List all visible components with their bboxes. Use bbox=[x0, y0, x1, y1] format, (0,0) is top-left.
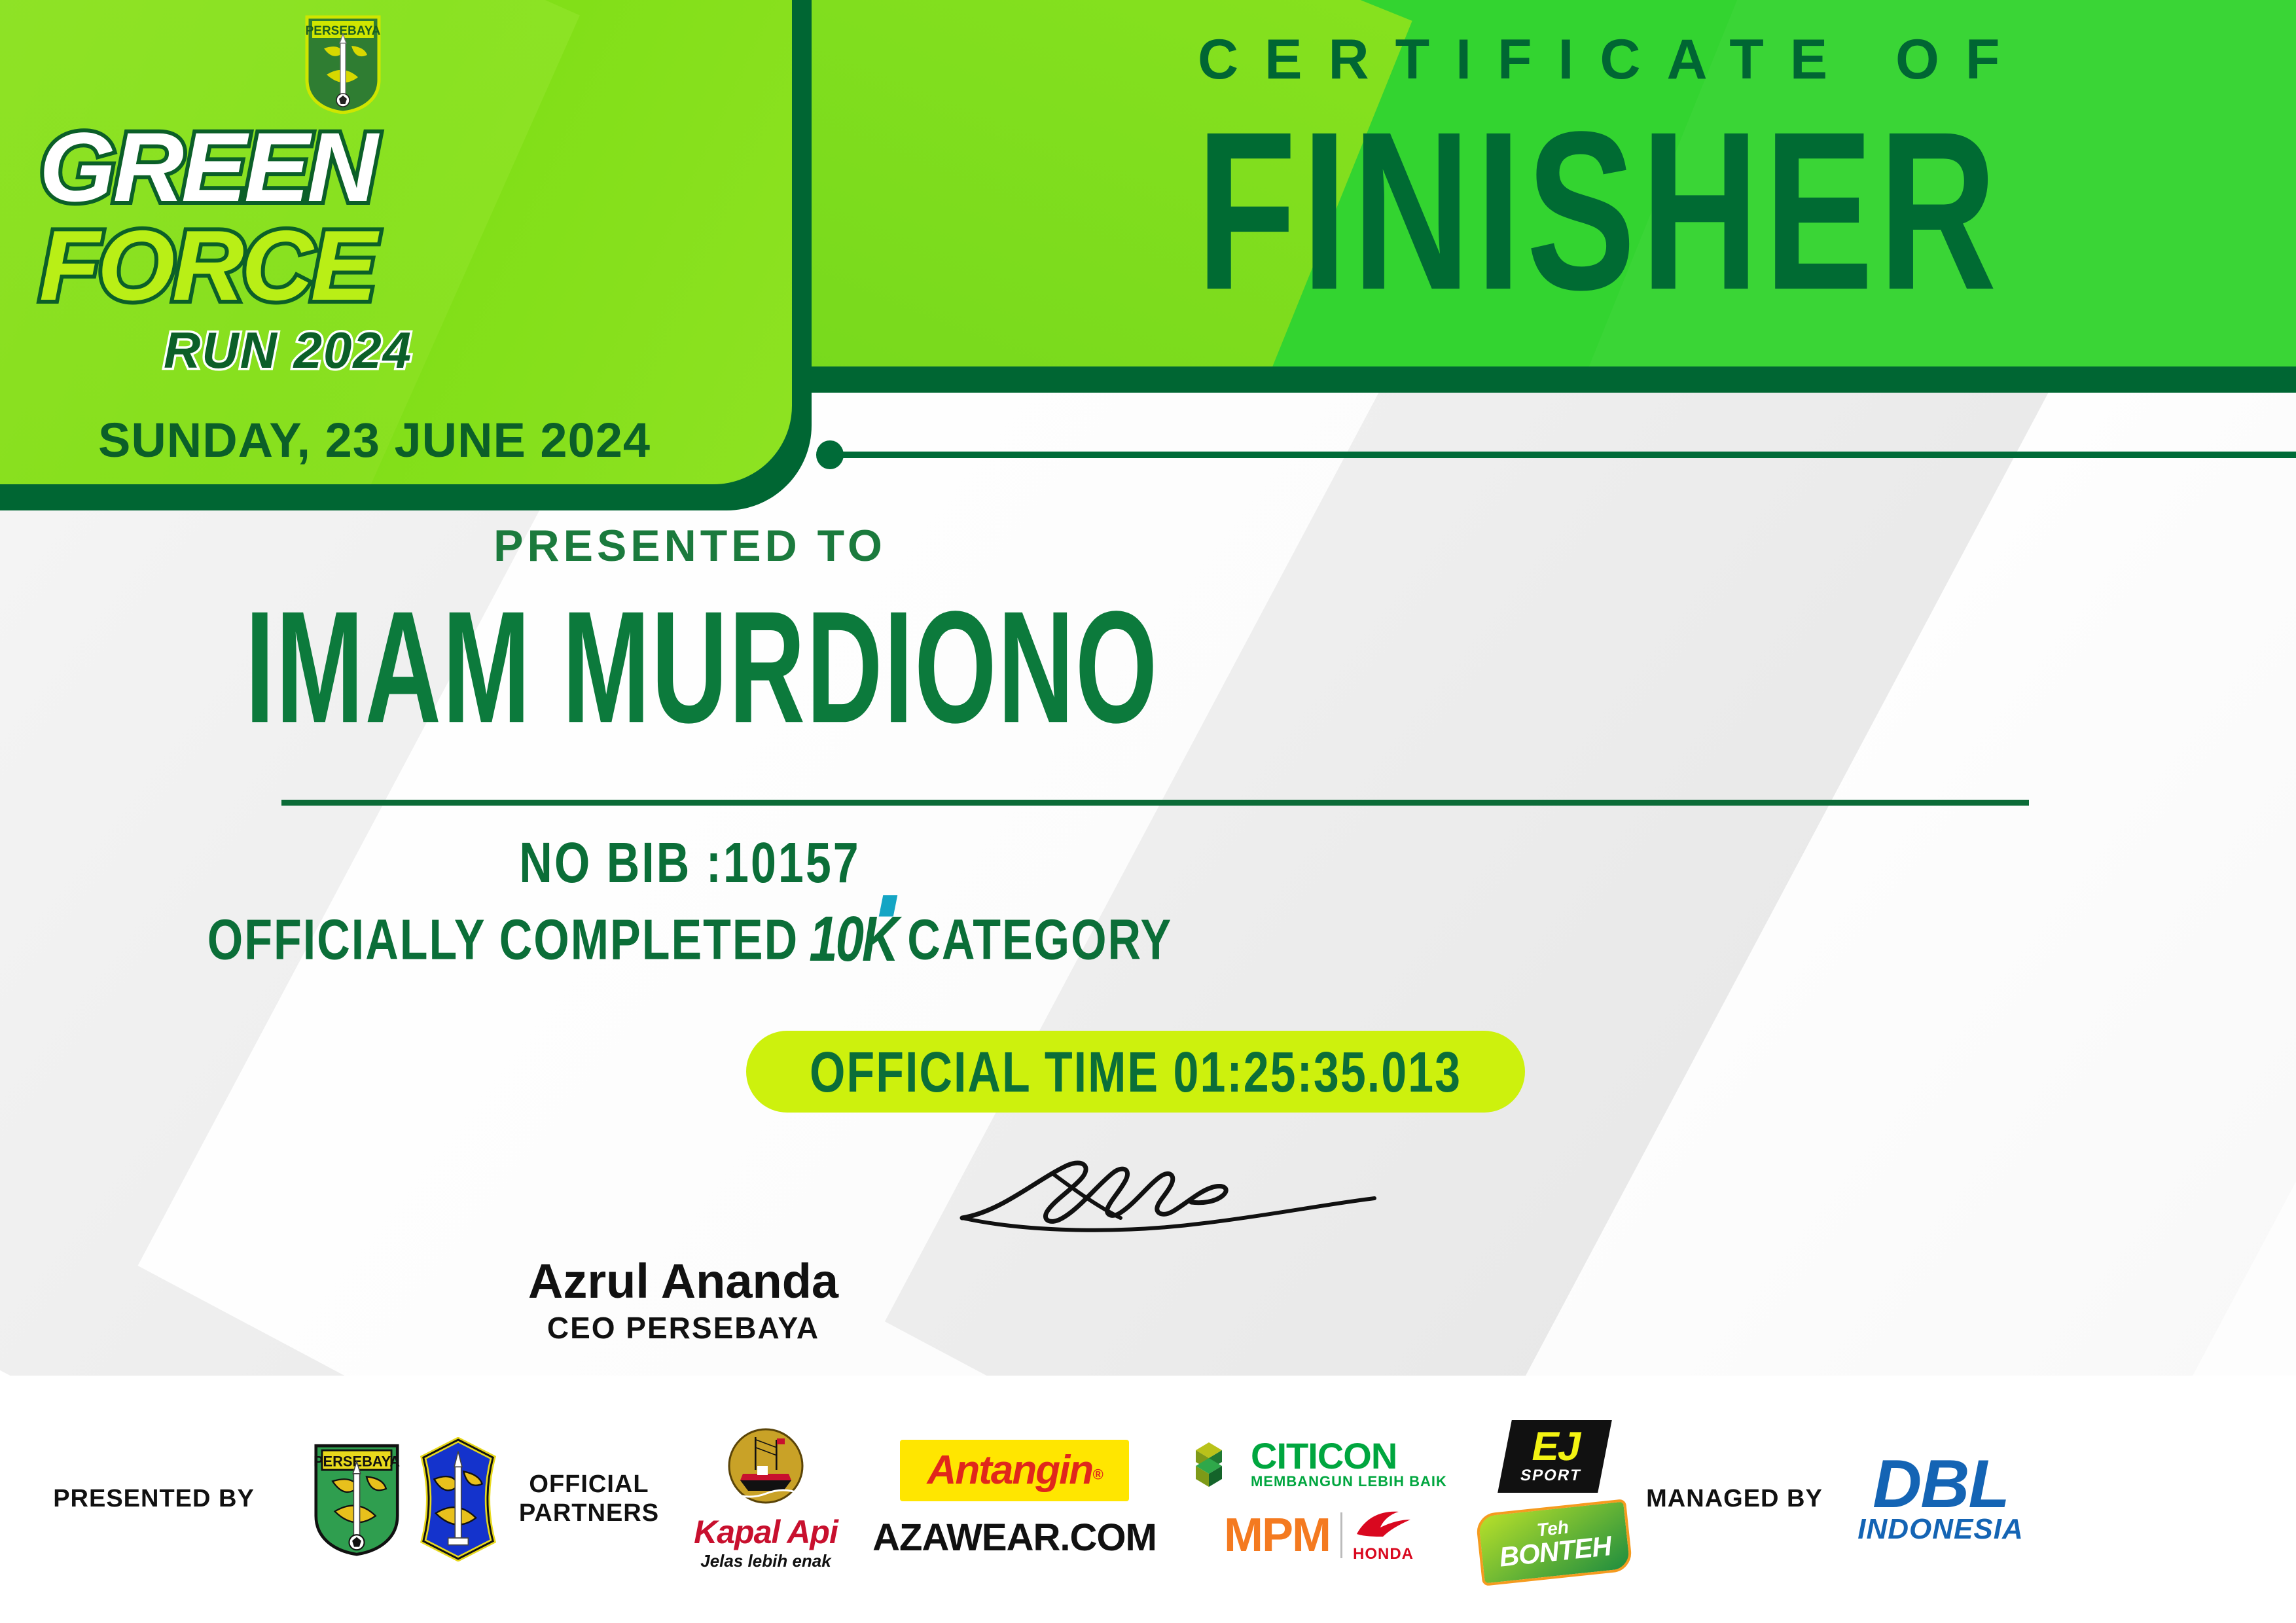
kapal-api-tagline: Jelas lebih enak bbox=[700, 1551, 831, 1571]
surabaya-city-crest-icon bbox=[416, 1437, 501, 1561]
citicon-logo: CITICON MEMBANGUN LEBIH BAIK bbox=[1191, 1436, 1447, 1493]
honda-wing-icon bbox=[1353, 1508, 1413, 1542]
certificate-canvas: CERTIFICATE OF FINISHER PERSEBAYA GREEN … bbox=[0, 0, 2296, 1623]
certificate-of-title: CERTIFICATE OF bbox=[1198, 31, 2026, 88]
presented-to-label: PRESENTED TO bbox=[0, 520, 2296, 571]
ten-k-logo-icon: 10K bbox=[809, 902, 897, 976]
partner-citicon-mpm-cell: CITICON MEMBANGUN LEBIH BAIK MPM HONDA bbox=[1165, 1436, 1473, 1563]
signatory-name: Azrul Ananda bbox=[0, 1253, 2296, 1309]
managed-by-label: MANAGED BY bbox=[1646, 1485, 1823, 1514]
official-time-text: OFFICIAL TIME 01:25:35.013 bbox=[810, 1039, 1462, 1105]
antangin-logo: Antangin® bbox=[900, 1440, 1130, 1501]
dbl-name: DBL bbox=[1857, 1455, 2023, 1515]
citicon-mpm-stack: CITICON MEMBANGUN LEBIH BAIK MPM HONDA bbox=[1191, 1436, 1447, 1563]
wordmark-force: FORCE bbox=[39, 216, 583, 315]
azawear-logo: AZAWEAR.COM bbox=[872, 1516, 1157, 1560]
event-date: SUNDAY, 23 JUNE 2024 bbox=[98, 412, 651, 468]
partner-antangin-azawear-cell: Antangin® AZAWEAR.COM bbox=[864, 1440, 1165, 1560]
sponsor-footer: PRESENTED BY PERSEBAYA bbox=[0, 1376, 2296, 1623]
mpm-divider bbox=[1340, 1512, 1342, 1558]
category-line: OFFICIALLY COMPLETED 10K CATEGORY bbox=[0, 902, 2296, 976]
name-divider-rule bbox=[281, 800, 2029, 806]
bib-number: NO BIB :10157 bbox=[0, 830, 2296, 895]
footer-persebaya-crest-cell: PERSEBAYA bbox=[308, 1440, 406, 1558]
partner-kapal-api-cell: Kapal Api Jelas lebih enak bbox=[668, 1428, 864, 1571]
finisher-title: FINISHER bbox=[1196, 98, 2002, 324]
kapal-api-logo: Kapal Api Jelas lebih enak bbox=[694, 1428, 838, 1571]
category-prefix: OFFICIALLY COMPLETED bbox=[207, 906, 798, 972]
persebaya-crest-icon: PERSEBAYA bbox=[304, 14, 382, 114]
dbl-tagline: INDONESIA bbox=[1857, 1515, 2023, 1544]
citicon-text-block: CITICON MEMBANGUN LEBIH BAIK bbox=[1251, 1438, 1447, 1490]
wordmark-run-2024: RUN 2024 bbox=[164, 321, 412, 380]
footer-surabaya-crest-cell bbox=[406, 1437, 511, 1561]
citicon-tagline: MEMBANGUN LEBIH BAIK bbox=[1251, 1473, 1447, 1490]
antangin-registered-mark: ® bbox=[1092, 1466, 1102, 1482]
honda-block: HONDA bbox=[1353, 1508, 1414, 1563]
citicon-name: CITICON bbox=[1251, 1438, 1447, 1473]
mpm-name: MPM bbox=[1224, 1514, 1330, 1557]
ej-sport-tagline: SPORT bbox=[1518, 1466, 1583, 1484]
wordmark-green: GREEN bbox=[39, 118, 583, 216]
recipient-name: IMAM MURDIONO bbox=[46, 576, 2250, 759]
kapal-api-name: Kapal Api bbox=[694, 1516, 838, 1548]
signature-mark-icon bbox=[942, 1155, 1394, 1240]
honda-name: HONDA bbox=[1353, 1545, 1414, 1563]
persebaya-crest-icon: PERSEBAYA bbox=[312, 1440, 401, 1558]
dbl-indonesia-logo: DBL INDONESIA bbox=[1857, 1455, 2023, 1544]
kapal-api-ship-icon bbox=[717, 1428, 815, 1513]
ej-bonteh-stack: EJ SPORT Teh BONTEH bbox=[1479, 1420, 1630, 1579]
presented-by-label-cell: PRESENTED BY bbox=[0, 1485, 308, 1514]
citicon-mark-icon bbox=[1191, 1436, 1242, 1493]
official-partners-label: OFFICIAL PARTNERS bbox=[511, 1471, 668, 1527]
signatory-role: CEO PERSEBAYA bbox=[0, 1310, 2296, 1346]
green-force-wordmark: GREEN FORCE bbox=[39, 118, 583, 334]
official-time-badge: OFFICIAL TIME 01:25:35.013 bbox=[746, 1031, 1525, 1113]
antangin-name: Antangin bbox=[927, 1448, 1093, 1493]
decorative-dot-line bbox=[834, 452, 2296, 458]
ej-name: EJ bbox=[1522, 1428, 1590, 1467]
category-suffix: CATEGORY bbox=[907, 906, 1172, 972]
presented-by-label: PRESENTED BY bbox=[53, 1485, 255, 1514]
official-partners-label-cell: OFFICIAL PARTNERS bbox=[511, 1471, 668, 1527]
teh-bonteh-logo: Teh BONTEH bbox=[1475, 1499, 1634, 1587]
managed-by-label-cell: MANAGED BY bbox=[1636, 1485, 1833, 1514]
managed-by-logo-cell: DBL INDONESIA bbox=[1833, 1455, 2049, 1544]
antangin-azawear-stack: Antangin® AZAWEAR.COM bbox=[872, 1440, 1157, 1560]
mpm-honda-logo: MPM HONDA bbox=[1224, 1508, 1414, 1563]
partner-ej-bonteh-cell: EJ SPORT Teh BONTEH bbox=[1473, 1420, 1636, 1579]
ej-sport-logo: EJ SPORT bbox=[1498, 1420, 1611, 1493]
